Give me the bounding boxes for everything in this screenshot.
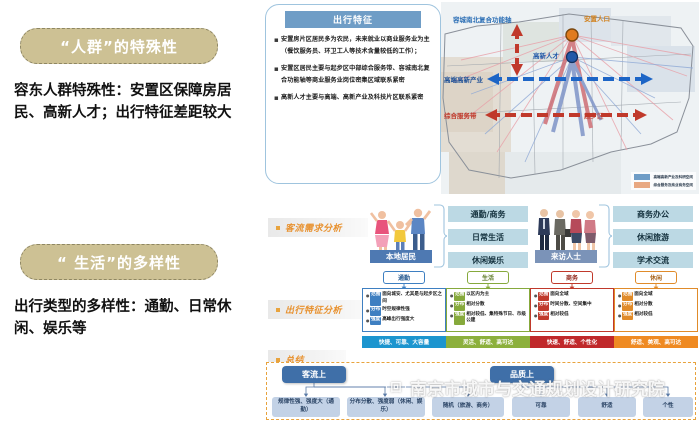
- life-paragraph: 出行类型的多样性：通勤、日常休闲、娱乐等: [14, 296, 240, 341]
- summary-leaf: 规律性强、强度大（通勤）: [272, 397, 340, 417]
- detail-key: 分布: [622, 302, 633, 311]
- attribute-bar-business: 快速、舒适、个性化: [530, 336, 614, 348]
- detail-line: ● 分布 时间分散、空间集中: [534, 302, 610, 311]
- demand-item: 日常生活: [448, 229, 528, 245]
- summary-leaf: 随机（旅游、商务）: [432, 397, 504, 417]
- detail-key: 分布: [538, 302, 549, 311]
- trip-detail-box-leisure: ● 范围 面向全域 ● 分布 相对分散 ● 强度 相对较低: [614, 288, 698, 332]
- detail-key: 分布: [370, 307, 381, 316]
- detail-value: 相对分散: [466, 302, 526, 311]
- detail-value: 时间分散、空间集中: [550, 302, 610, 311]
- map-legend: 高端高新产业及科研空间 综合服务及商业商务空间: [631, 172, 696, 190]
- detail-value: 相对较低: [550, 312, 610, 321]
- crowd-heading-label: “人群”的特殊性: [60, 36, 178, 57]
- summary-leaf: 分布分散、强度弱（休闲、娱乐）: [347, 397, 425, 417]
- trip-detail-box-commute: ● 范围 面向城安、尤其是与起步区之间 ● 分布 时空规律性强 ● 强度 高峰出…: [362, 288, 446, 332]
- legend-item: 综合服务及商业商务空间: [634, 182, 693, 188]
- detail-value: 相对较低: [634, 312, 694, 321]
- category-pill-business: 商务: [551, 271, 593, 284]
- brace-visitors-icon: [598, 204, 612, 270]
- travel-feature-card-title: 出行特征: [285, 11, 421, 28]
- section-tag-label: 客流需求分析: [285, 221, 342, 234]
- section-tag-trip-analysis: 出行特征分析: [268, 300, 368, 319]
- detail-line: ● 范围 面向全域: [618, 292, 694, 301]
- detail-line: ● 范围 面向全域: [534, 292, 610, 301]
- attribute-bar-label: 快速、舒适、个性化: [547, 338, 597, 346]
- demand-item: 休闲娱乐: [448, 252, 528, 268]
- demand-item: 休闲旅游: [613, 229, 693, 245]
- detail-value: 面向全域: [634, 292, 694, 301]
- attribute-bar-leisure: 舒适、美观、高可达: [614, 336, 698, 348]
- group-caption-local: 本地居民: [370, 250, 432, 263]
- group-caption-visitors: 来访人士: [535, 250, 597, 263]
- detail-value: 相对分散: [634, 302, 694, 311]
- map-label-industry: 高端高新产业: [444, 74, 483, 84]
- detail-line: ● 分布 相对分散: [618, 302, 694, 311]
- square-bullet-icon: [276, 358, 280, 362]
- attribute-bar-commute: 快捷、可靠、大容量: [362, 336, 446, 348]
- detail-line: ● 范围 面向城安、尤其是与起步区之间: [366, 292, 442, 306]
- summary-leaf: 舒适: [578, 397, 636, 417]
- square-bullet-icon: [276, 226, 280, 230]
- detail-key: 范围: [622, 292, 633, 301]
- detail-line: ● 分布 时空规律性强: [366, 307, 442, 316]
- left-panel: “人群”的特殊性 容东人群特殊性：安置区保障房居民、高新人才；出行特征差距较大 …: [0, 0, 258, 423]
- demand-item: 通勤/商务: [448, 206, 528, 222]
- trip-detail-box-life: ● 范围 以区内为主 ● 分布 相对分散 ● 强度 相对较低、集特殊节日、市级公…: [446, 288, 530, 332]
- bullet-text: 高新人才主要与高端、高新产业及科技片区联系紧密: [281, 92, 433, 105]
- map-label-startup: 起步区: [584, 110, 604, 120]
- crowd-paragraph: 容东人群特殊性：安置区保障房居民、高新人才；出行特征差距较大: [14, 80, 240, 125]
- brace-local-icon: [433, 204, 447, 270]
- regional-relation-map: 容城南北复合功能轴 安置人口 高新人才 高端高新产业 综合服务带 起步区 高端高…: [441, 2, 699, 194]
- map-label-talent: 高新人才: [533, 50, 559, 60]
- detail-key: 范围: [538, 292, 549, 301]
- detail-key: 强度: [370, 317, 381, 326]
- trip-detail-box-business: ● 范围 面向全域 ● 分布 时间分散、空间集中 ● 强度 相对较低: [530, 288, 614, 332]
- legend-item: 高端高新产业及科研空间: [634, 174, 693, 180]
- detail-line: ● 强度 相对较低: [618, 312, 694, 321]
- category-pill-commute: 通勤: [383, 271, 425, 284]
- bullet-dot-icon: ▪: [274, 63, 281, 87]
- attribute-bar-life: 灵活、舒适、高可达: [446, 336, 530, 348]
- detail-value: 面向全域: [550, 292, 610, 301]
- life-heading-label: “ 生活”的多样性: [57, 252, 181, 273]
- local-residents-illustration: 本地居民: [370, 205, 432, 263]
- detail-value: 以区内为主: [466, 292, 526, 301]
- square-bullet-icon: [276, 308, 280, 312]
- demand-item: 学术交流: [613, 252, 693, 268]
- detail-key: 范围: [370, 292, 381, 306]
- detail-value: 时空规律性强: [382, 307, 442, 316]
- detail-key: 强度: [538, 312, 549, 321]
- demand-item: 商务办公: [613, 206, 693, 222]
- detail-key: 范围: [454, 292, 465, 301]
- list-item: ▪ 高新人才主要与高端、高新产业及科技片区联系紧密: [274, 92, 433, 105]
- legend-label: 综合服务及商业商务空间: [653, 183, 693, 188]
- summary-leaf: 个性: [643, 397, 693, 417]
- summary-leaf: 可靠: [512, 397, 570, 417]
- detail-line: ● 强度 高峰出行强度大: [366, 317, 442, 326]
- crowd-heading-pill: “人群”的特殊性: [20, 28, 218, 64]
- detail-key: 分布: [454, 302, 465, 311]
- section-tag-demand-analysis: 客流需求分析: [268, 218, 368, 237]
- bullet-dot-icon: ▪: [274, 34, 281, 58]
- section-tag-label: 出行特征分析: [285, 303, 342, 316]
- attribute-bar-label: 快捷、可靠、大容量: [379, 338, 429, 346]
- life-heading-pill: “ 生活”的多样性: [20, 244, 218, 280]
- detail-key: 强度: [622, 312, 633, 321]
- attribute-bar-label: 灵活、舒适、高可达: [463, 338, 513, 346]
- map-label-service: 综合服务带: [444, 110, 477, 120]
- travel-feature-card: 出行特征 ▪ 安置房片区居民多为农民，未来就业以商业服务业为主（餐饮服务员、环卫…: [265, 4, 441, 184]
- detail-line: ● 范围 以区内为主: [450, 292, 526, 301]
- category-pill-life: 生活: [467, 271, 509, 284]
- detail-value: 相对较低、集特殊节日、市级公建: [466, 312, 526, 326]
- legend-label: 高端高新产业及科研空间: [653, 175, 693, 180]
- visitor-figures-icon: [535, 205, 597, 251]
- detail-value: 面向城安、尤其是与起步区之间: [382, 292, 442, 306]
- detail-value: 高峰出行强度大: [382, 317, 442, 326]
- detail-line: ● 强度 相对较低、集特殊节日、市级公建: [450, 312, 526, 326]
- detail-line: ● 分布 相对分散: [450, 302, 526, 311]
- category-pill-leisure: 休闲: [635, 271, 677, 284]
- summary-head-passenger-flow: 客流上: [282, 366, 346, 383]
- list-item: ▪ 安置房片区居民多为农民，未来就业以商业服务业为主（餐饮服务员、环卫工人等技术…: [274, 34, 433, 58]
- bullet-text: 安置区居民主要与起步区中部综合服务带、容城南北复合功能轴等商业服务业岗位密集区域…: [281, 63, 433, 87]
- visitors-illustration: 来访人士: [535, 205, 597, 263]
- map-label-axis: 容城南北复合功能轴: [453, 14, 512, 24]
- attribute-bar-label: 舒适、美观、高可达: [631, 338, 681, 346]
- legend-swatch-icon: [634, 174, 650, 180]
- map-label-population: 安置人口: [584, 13, 610, 23]
- legend-swatch-icon: [634, 182, 650, 188]
- detail-line: ● 强度 相对较低: [534, 312, 610, 321]
- summary-head-quality: 品质上: [490, 366, 554, 383]
- bullet-text: 安置房片区居民多为农民，未来就业以商业服务业为主（餐饮服务员、环卫工人等技术含量…: [281, 34, 433, 58]
- detail-key: 强度: [454, 312, 465, 326]
- map-graphic: [441, 2, 699, 194]
- bullet-dot-icon: ▪: [274, 92, 281, 105]
- list-item: ▪ 安置区居民主要与起步区中部综合服务带、容城南北复合功能轴等商业服务业岗位密集…: [274, 63, 433, 87]
- family-figures-icon: [370, 205, 432, 251]
